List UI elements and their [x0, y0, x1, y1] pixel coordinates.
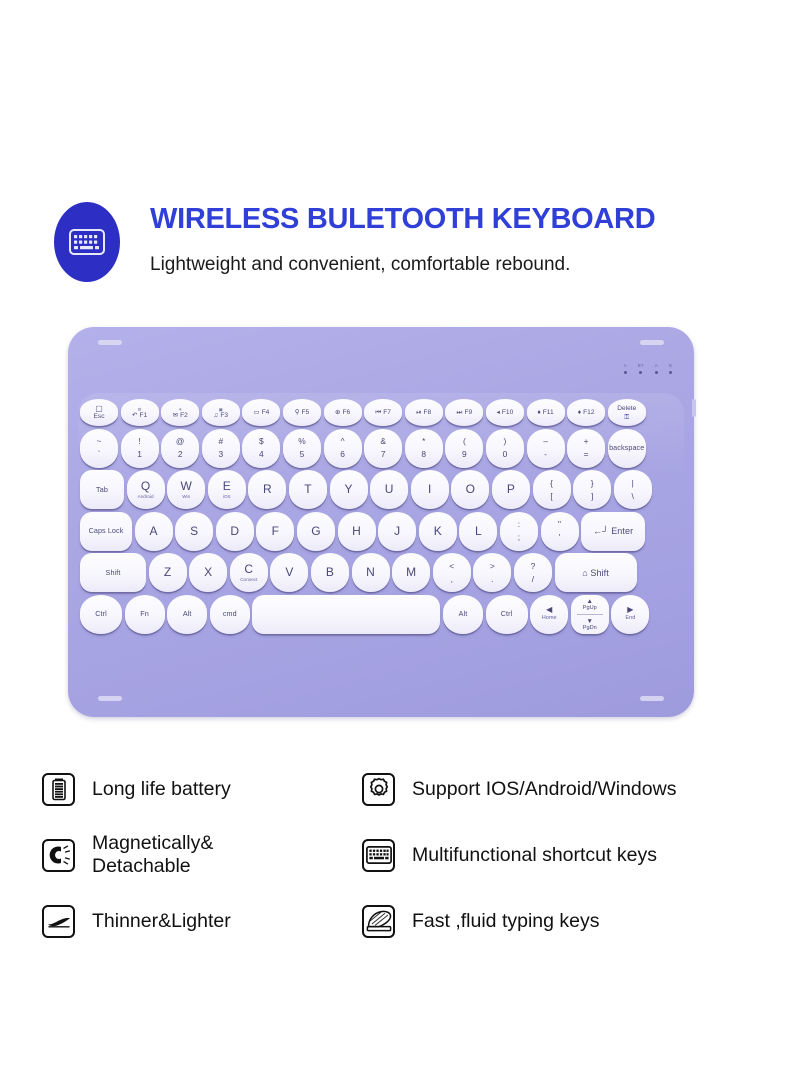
f7-icon: ⏮: [375, 409, 381, 416]
key-sublabel: Win: [182, 494, 190, 499]
key-7[interactable]: &7: [364, 429, 402, 468]
key-label: F12: [583, 409, 594, 416]
key-label: P: [507, 483, 515, 496]
key-sublabel: Connect: [240, 577, 257, 582]
key-label: F4: [262, 409, 270, 416]
key-l[interactable]: L: [459, 512, 497, 551]
key-9[interactable]: (9: [445, 429, 483, 468]
typing-keys-icon: [362, 905, 395, 938]
key-label: C: [244, 563, 253, 576]
key-1[interactable]: !1: [121, 429, 159, 468]
key-g[interactable]: G: [297, 512, 335, 551]
feature-item: Thinner&Lighter: [42, 900, 362, 942]
f2-icon: ✉: [173, 412, 179, 419]
feature-label: Thinner&Lighter: [92, 910, 231, 933]
key-label: Ctrl: [95, 610, 107, 618]
key-ctrl-left[interactable]: Ctrl: [80, 595, 122, 634]
key-backspace[interactable]: backspace: [608, 429, 646, 468]
key-label-top: |: [632, 479, 634, 488]
key-label-bottom: 0: [503, 450, 508, 459]
key-label: Z: [164, 566, 171, 579]
feature-list: Long life batteryMagnetically&Detachable…: [0, 768, 800, 968]
key-shift-left[interactable]: Shift: [80, 553, 146, 592]
key-k[interactable]: K: [419, 512, 457, 551]
key-f4[interactable]: ▭F4: [242, 399, 280, 426]
arrow-left-icon: ◀: [546, 606, 552, 613]
key-u[interactable]: U: [370, 470, 408, 509]
key-f5[interactable]: ⚲F5: [283, 399, 321, 426]
key-pgup[interactable]: ▲PgUp: [571, 595, 609, 614]
key-icon-label-pair: ⚲F5: [295, 409, 310, 416]
feature-label: Magnetically&Detachable: [92, 832, 213, 878]
key-label: F1: [140, 412, 148, 419]
f8-icon: ⏯: [416, 409, 421, 416]
key-label: PgUp: [583, 605, 597, 611]
key-label-top: :: [518, 520, 520, 529]
key-label-bottom: .: [491, 575, 493, 584]
key-y[interactable]: Y: [330, 470, 368, 509]
key-label-bottom: ;: [518, 533, 520, 542]
key-alt-left[interactable]: Alt: [167, 595, 207, 634]
key-label: ⌂ Shift: [582, 568, 609, 578]
key-f7[interactable]: ⏮F7: [364, 399, 402, 426]
slim-profile-icon: [42, 905, 75, 938]
key-fn[interactable]: Fn: [125, 595, 165, 634]
key-label-bottom: ,: [451, 575, 453, 584]
f10-icon: ◂: [497, 409, 500, 416]
key-caps-lock[interactable]: Caps Lock: [80, 512, 132, 551]
key-label-top: +: [584, 437, 589, 446]
key-label-top: #: [218, 437, 223, 446]
key-shift-right[interactable]: ⌂ Shift: [555, 553, 637, 592]
key-label: Esc: [94, 413, 105, 420]
side-button: [692, 399, 696, 417]
key-label: Tab: [96, 486, 108, 494]
key-label: I: [428, 483, 431, 496]
lock-icon: ⚿: [624, 414, 629, 421]
keyboard-product-image: ABTAB ▢Esc⚙↶F1☀✉F2▣♫F3▭F4⚲F5⊕F6⏮F7⏯F8⏭F9…: [68, 327, 694, 717]
led-dot: [639, 371, 642, 374]
key-label-top: *: [422, 437, 425, 446]
key-label-bottom: /: [532, 575, 534, 584]
key-label-bottom: 7: [381, 450, 386, 459]
key-label: F3: [220, 412, 228, 419]
key-label: Y: [345, 483, 353, 496]
key-label-bottom: 9: [462, 450, 467, 459]
key-label: S: [190, 525, 198, 538]
key-label: Alt: [459, 610, 468, 618]
key-bracket-right[interactable]: }]: [573, 470, 611, 509]
feature-item: Magnetically&Detachable: [42, 834, 362, 876]
arrow-down-icon: ▼: [587, 618, 593, 625]
key-p[interactable]: P: [492, 470, 530, 509]
key-label: ←┘ Enter: [593, 526, 633, 536]
key-0[interactable]: )0: [486, 429, 524, 468]
key-label: J: [394, 525, 400, 538]
key-s[interactable]: S: [175, 512, 213, 551]
key-label: E: [223, 480, 231, 493]
arrow-up-icon: ▲: [587, 598, 593, 605]
key-icon-label-pair: ⏯F8: [416, 409, 431, 416]
key-h[interactable]: H: [338, 512, 376, 551]
key-q[interactable]: QAndroid: [127, 470, 165, 509]
key-icon-label-pair: ⏭F9: [457, 409, 473, 416]
key-label: F: [272, 525, 279, 538]
body-slot-bottom-right: [640, 696, 664, 701]
key-a[interactable]: A: [135, 512, 173, 551]
key-label-bottom: [: [550, 492, 552, 501]
led-dot: [669, 371, 672, 374]
key-f3[interactable]: ▣♫F3: [202, 399, 240, 426]
key-f2[interactable]: ☀✉F2: [161, 399, 199, 426]
key-tab[interactable]: Tab: [80, 470, 124, 509]
key-2[interactable]: @2: [161, 429, 199, 468]
key-equal[interactable]: +=: [567, 429, 605, 468]
key-label-top: ": [558, 520, 561, 529]
battery-icon: [42, 773, 75, 806]
key-4[interactable]: $4: [242, 429, 280, 468]
key-sublabel: iOS: [223, 494, 231, 499]
page-subtitle: Lightweight and convenient, comfortable …: [150, 252, 800, 278]
led-label: A: [655, 363, 658, 368]
key-f[interactable]: F: [256, 512, 294, 551]
led-indicator: A: [655, 363, 658, 374]
key-icon-label-pair: ♦F11: [537, 409, 553, 416]
key-o[interactable]: O: [451, 470, 489, 509]
key-label-top: <: [449, 562, 454, 571]
key-label: Home: [542, 616, 557, 621]
key-label: cmd: [223, 610, 237, 618]
key-matrix: ▢Esc⚙↶F1☀✉F2▣♫F3▭F4⚲F5⊕F6⏮F7⏯F8⏭F9◂F10♦F…: [80, 399, 682, 636]
key-glyph-top: ☀: [178, 407, 182, 412]
key-d[interactable]: D: [216, 512, 254, 551]
key-r[interactable]: R: [248, 470, 286, 509]
led-indicator-group: ABTAB: [624, 363, 672, 374]
key-f1[interactable]: ⚙↶F1: [121, 399, 159, 426]
led-label: A: [624, 363, 627, 368]
led-label: B: [669, 363, 672, 368]
header-banner: WIRELESS BULETOOTH KEYBOARD Lightweight …: [0, 196, 800, 300]
key-bracket-left[interactable]: {[: [533, 470, 571, 509]
key-c[interactable]: CConnect: [230, 553, 268, 592]
key-label-top: $: [259, 437, 264, 446]
gear-icon: [362, 773, 395, 806]
key-label: W: [180, 480, 191, 493]
key-label-top: –: [543, 437, 548, 446]
led-dot: [624, 371, 627, 374]
key-w[interactable]: WWin: [167, 470, 205, 509]
magnet-icon: [42, 839, 75, 872]
key-label-top: {: [550, 479, 553, 488]
f6-icon: ⊕: [335, 409, 341, 416]
key-quote[interactable]: "': [541, 512, 579, 551]
key-comma[interactable]: <,: [433, 553, 471, 592]
feature-item: Support IOS/Android/Windows: [362, 768, 782, 810]
key-icon-label-pair: ✉F2: [173, 412, 188, 419]
key-label: F7: [383, 409, 391, 416]
key-label: End: [625, 616, 635, 621]
key-label-top: !: [138, 437, 140, 446]
key-delete[interactable]: Delete⚿: [608, 399, 646, 426]
feature-column-left: Long life batteryMagnetically&Detachable…: [42, 768, 362, 966]
key-label-top: ^: [341, 437, 345, 446]
key-f10[interactable]: ◂F10: [486, 399, 524, 426]
key-label: F10: [502, 409, 513, 416]
key-label: Delete: [617, 405, 636, 412]
key-row-function: ▢Esc⚙↶F1☀✉F2▣♫F3▭F4⚲F5⊕F6⏮F7⏯F8⏭F9◂F10♦F…: [80, 399, 682, 426]
key-label: Alt: [183, 610, 192, 618]
key-label-bottom: =: [584, 450, 589, 459]
key-ctrl-right[interactable]: Ctrl: [486, 595, 528, 634]
key-8[interactable]: *8: [405, 429, 443, 468]
key-slash[interactable]: ?/: [514, 553, 552, 592]
keyboard-icon: [54, 202, 120, 282]
key-label-bottom: 4: [259, 450, 264, 459]
body-slot-top-right: [640, 340, 664, 345]
key-icon-label-pair: ◂F10: [497, 409, 514, 416]
f9-icon: ⏭: [457, 409, 463, 416]
key-icon-label-pair: ⏮F7: [375, 409, 391, 416]
led-label: BT: [638, 363, 644, 368]
key-row-qwerty: TabQAndroidWWinEiOSRTYUIOP{[}]|\: [80, 470, 682, 509]
key-glyph-top: ▣: [219, 407, 223, 412]
led-indicator: A: [624, 363, 627, 374]
key-label: B: [326, 566, 334, 579]
key-label-bottom: `: [98, 450, 101, 459]
key-icon-label-pair: ♦F12: [578, 409, 595, 416]
body-slot-bottom-left: [98, 696, 122, 701]
key-label: F11: [543, 409, 554, 416]
key-sublabel: Android: [138, 494, 154, 499]
key-label-top: ): [504, 437, 507, 446]
key-label-top: ~: [97, 437, 102, 446]
key-t[interactable]: T: [289, 470, 327, 509]
key-label: PgDn: [583, 625, 597, 631]
key-label: U: [385, 483, 394, 496]
page-title: WIRELESS BULETOOTH KEYBOARD: [150, 202, 790, 236]
key-5[interactable]: %5: [283, 429, 321, 468]
f1-icon: ↶: [132, 412, 138, 419]
key-row-home: Caps LockASDFGHJKL:;"'←┘ Enter: [80, 512, 682, 551]
key-label-top: &: [380, 437, 386, 446]
key-n[interactable]: N: [352, 553, 390, 592]
key-f9[interactable]: ⏭F9: [445, 399, 483, 426]
key-label-bottom: 6: [340, 450, 345, 459]
key-label: L: [475, 525, 482, 538]
key-label-top: (: [463, 437, 466, 446]
key-label-bottom: ': [559, 533, 561, 542]
body-slot-top-left: [98, 340, 122, 345]
key-j[interactable]: J: [378, 512, 416, 551]
key-row-shift: ShiftZXCConnectVBNM<,>.?/⌂ Shift: [80, 553, 682, 592]
led-indicator: BT: [638, 363, 644, 374]
feature-column-right: Support IOS/Android/WindowsMultifunction…: [362, 768, 782, 966]
key-cmd[interactable]: cmd: [210, 595, 250, 634]
key-3[interactable]: #3: [202, 429, 240, 468]
key-label: H: [352, 525, 361, 538]
key-label: G: [311, 525, 320, 538]
key-m[interactable]: M: [392, 553, 430, 592]
key-label: backspace: [609, 444, 644, 452]
key-semicolon[interactable]: :;: [500, 512, 538, 551]
key-label-top: }: [591, 479, 594, 488]
key-label: F5: [302, 409, 310, 416]
key-x[interactable]: X: [189, 553, 227, 592]
key-label: T: [304, 483, 311, 496]
key-label: Q: [141, 480, 150, 493]
key-label: O: [466, 483, 475, 496]
key-f8[interactable]: ⏯F8: [405, 399, 443, 426]
key-label-top: %: [298, 437, 305, 446]
key-period[interactable]: >.: [473, 553, 511, 592]
key-label: M: [406, 566, 416, 579]
key-space[interactable]: [252, 595, 440, 634]
feature-label: Support IOS/Android/Windows: [412, 778, 676, 801]
f4-icon: ▭: [253, 409, 259, 416]
key-i[interactable]: I: [411, 470, 449, 509]
feature-item: Multifunctional shortcut keys: [362, 834, 782, 876]
led-dot: [655, 371, 658, 374]
key-label: K: [434, 525, 442, 538]
key-label: F2: [180, 412, 188, 419]
key-icon-label-pair: ▭F4: [253, 409, 269, 416]
key-label: X: [204, 566, 212, 579]
key-label-bottom: \: [632, 492, 634, 501]
key-label: D: [230, 525, 239, 538]
key-label: R: [263, 483, 272, 496]
key-minus[interactable]: –-: [527, 429, 565, 468]
key-label: Shift: [106, 569, 121, 577]
key-label-bottom: 8: [421, 450, 426, 459]
key-end-key[interactable]: ▶End: [611, 595, 649, 634]
f11-icon: ♦: [537, 409, 540, 416]
key-label-top: >: [490, 562, 495, 571]
feature-item: Fast ,fluid typing keys: [362, 900, 782, 942]
key-label-bottom: ]: [591, 492, 593, 501]
key-6[interactable]: ^6: [324, 429, 362, 468]
key-alt-right[interactable]: Alt: [443, 595, 483, 634]
key-label: A: [150, 525, 158, 538]
key-label: V: [285, 566, 293, 579]
key-label: F9: [464, 409, 472, 416]
key-e[interactable]: EiOS: [208, 470, 246, 509]
key-z[interactable]: Z: [149, 553, 187, 592]
key-label: N: [366, 566, 375, 579]
key-icon-label-pair: ♫F3: [213, 412, 228, 419]
key-label: Ctrl: [501, 610, 513, 618]
key-label: F8: [424, 409, 432, 416]
key-tilde[interactable]: ~`: [80, 429, 118, 468]
key-esc[interactable]: ▢Esc: [80, 399, 118, 426]
key-label-bottom: 2: [178, 450, 183, 459]
f5-icon: ⚲: [295, 409, 300, 416]
led-indicator: B: [669, 363, 672, 374]
key-row-bottom: CtrlFnAltcmdAltCtrl◀Home▲PgUp▼PgDn▶End: [80, 595, 682, 634]
key-label: Caps Lock: [89, 527, 124, 535]
key-f11[interactable]: ♦F11: [527, 399, 565, 426]
key-label-bottom: -: [544, 450, 547, 459]
key-glyph-top: ⚙: [138, 407, 142, 412]
key-v[interactable]: V: [270, 553, 308, 592]
key-label-top: @: [176, 437, 185, 446]
key-backslash[interactable]: |\: [614, 470, 652, 509]
keyboard-icon: [362, 839, 395, 872]
key-row-number: ~`!1@2#3$4%5^6&7*8(9)0–-+=backspace: [80, 429, 682, 468]
key-f12[interactable]: ♦F12: [567, 399, 605, 426]
f3-icon: ♫: [213, 412, 218, 419]
key-icon-label-pair: ⊕F6: [335, 409, 350, 416]
key-label-bottom: 5: [300, 450, 305, 459]
key-b[interactable]: B: [311, 553, 349, 592]
key-label: F6: [342, 409, 350, 416]
key-label-bottom: 1: [137, 450, 142, 459]
key-enter[interactable]: ←┘ Enter: [581, 512, 645, 551]
home-square-icon: ▢: [95, 405, 103, 412]
key-label-bottom: 3: [218, 450, 223, 459]
key-home-key[interactable]: ◀Home: [530, 595, 568, 634]
arrow-right-icon: ▶: [627, 606, 633, 613]
key-f6[interactable]: ⊕F6: [324, 399, 362, 426]
key-label: Fn: [140, 610, 149, 618]
f12-icon: ♦: [578, 409, 581, 416]
feature-label: Multifunctional shortcut keys: [412, 844, 657, 867]
feature-label: Fast ,fluid typing keys: [412, 910, 600, 933]
key-pgup-pgdn[interactable]: ▲PgUp▼PgDn: [571, 595, 609, 634]
key-pgdn[interactable]: ▼PgDn: [571, 615, 609, 634]
feature-item: Long life battery: [42, 768, 362, 810]
key-label-top: ?: [531, 562, 536, 571]
key-icon-label-pair: ↶F1: [132, 412, 147, 419]
feature-label: Long life battery: [92, 778, 231, 801]
